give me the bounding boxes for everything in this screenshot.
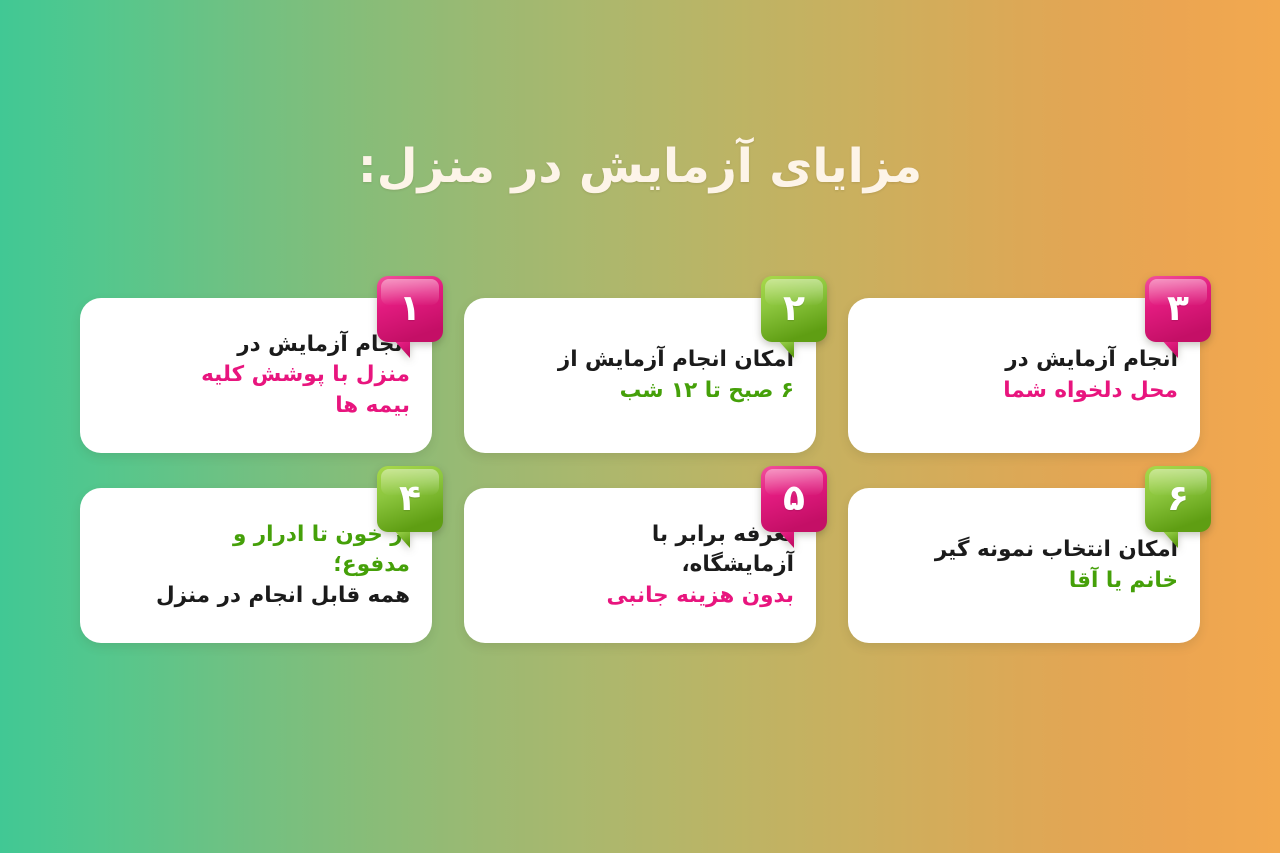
benefit-card-text: از خون تا ادرار و مدفوع؛همه قابل انجام د… (154, 520, 414, 612)
benefit-text-primary: امکان انجام آزمایش از (538, 345, 794, 376)
benefit-number-badge-icon: ۳ (1145, 276, 1211, 360)
benefit-text-highlight: ۶ صبح تا ۱۲ شب (538, 376, 794, 407)
benefit-number-badge-icon: ۴ (377, 466, 443, 550)
benefit-text-highlight: بدون هزینه جانبی (538, 581, 794, 612)
benefit-text-primary: انجام آزمایش در (154, 330, 410, 361)
benefit-card-slot: امکان انتخاب نمونه گیرخانم یا آقا۶ (848, 488, 1200, 643)
benefit-text-highlight: منزل با پوشش کلیه بیمه ها (154, 360, 410, 421)
benefit-cards-grid: انجام آزمایش درمحل دلخواه شما۳امکان انجا… (80, 298, 1200, 643)
benefit-card-slot: تعرفه برابر با آزمایشگاه،بدون هزینه جانب… (464, 488, 816, 643)
benefit-card-text: انجام آزمایش درمنزل با پوشش کلیه بیمه ها (154, 330, 414, 422)
page-title: مزایای آزمایش در منزل: (358, 139, 922, 195)
benefit-number-badge-icon: ۱ (377, 276, 443, 360)
benefit-text-highlight: خانم یا آقا (922, 566, 1178, 597)
benefit-card-slot: امکان انجام آزمایش از۶ صبح تا ۱۲ شب۲ (464, 298, 816, 453)
benefit-number-badge-icon: ۶ (1145, 466, 1211, 550)
benefit-card-text: امکان انجام آزمایش از۶ صبح تا ۱۲ شب (538, 345, 798, 406)
benefit-card-text: انجام آزمایش درمحل دلخواه شما (922, 345, 1182, 406)
infographic-canvas: مزایای آزمایش در منزل: انجام آزمایش درمح… (0, 0, 1280, 853)
benefit-card-slot: انجام آزمایش درمحل دلخواه شما۳ (848, 298, 1200, 453)
benefit-text-highlight: محل دلخواه شما (922, 376, 1178, 407)
benefit-card-slot: از خون تا ادرار و مدفوع؛همه قابل انجام د… (80, 488, 432, 643)
benefit-text-primary: همه قابل انجام در منزل (154, 581, 410, 612)
benefit-text-primary: امکان انتخاب نمونه گیر (922, 535, 1178, 566)
benefit-text-highlight: از خون تا ادرار و مدفوع؛ (154, 520, 410, 581)
benefit-number-badge-icon: ۲ (761, 276, 827, 360)
benefit-card-text: امکان انتخاب نمونه گیرخانم یا آقا (922, 535, 1182, 596)
benefit-card-slot: انجام آزمایش درمنزل با پوشش کلیه بیمه ها… (80, 298, 432, 453)
benefit-number-badge-icon: ۵ (761, 466, 827, 550)
benefit-text-primary: انجام آزمایش در (922, 345, 1178, 376)
title-container: مزایای آزمایش در منزل: (0, 108, 1280, 227)
benefit-card-text: تعرفه برابر با آزمایشگاه،بدون هزینه جانب… (538, 520, 798, 612)
benefit-text-primary: تعرفه برابر با آزمایشگاه، (538, 520, 794, 581)
